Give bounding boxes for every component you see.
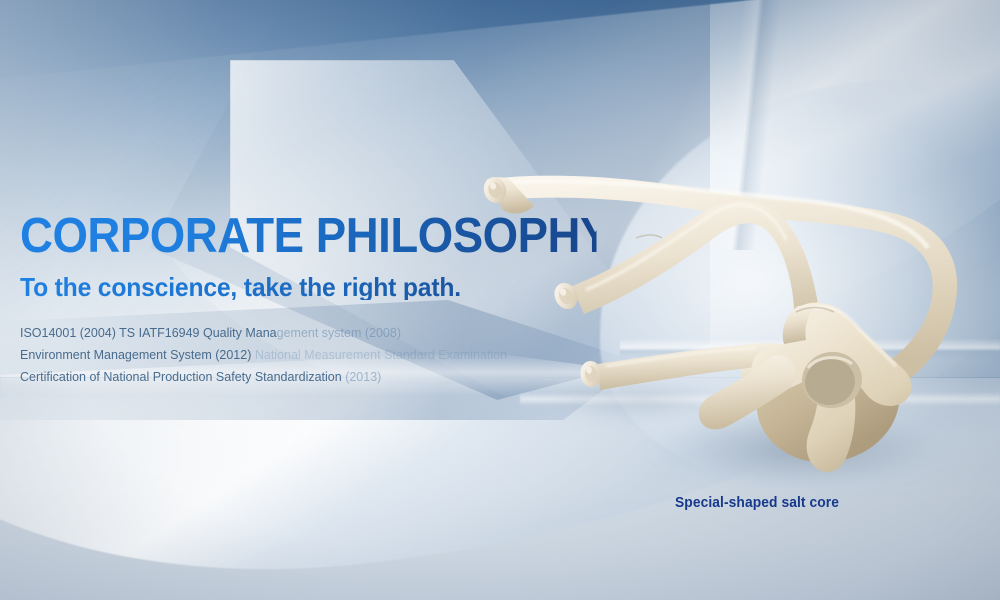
certification-list: ISO14001 (2004) TS IATF16949 Quality Man… [20,322,640,388]
certification-text-faded: (2013) [342,370,382,384]
certification-text-faded: gement system (2008) [277,326,401,340]
corporate-philosophy-banner: CORPORATE PHILOSOPHY To the conscience, … [0,0,1000,600]
certification-text-lead: Environment Management System (2012) [20,348,251,362]
certification-item: ISO14001 (2004) TS IATF16949 Quality Man… [20,322,640,344]
certification-text-lead: Certification of National Production Saf… [20,370,342,384]
page-title: CORPORATE PHILOSOPHY [20,212,597,261]
certification-item: Certification of National Production Saf… [20,366,640,388]
certification-text-lead: ISO14001 (2004) TS IATF16949 Quality Man… [20,326,277,340]
certification-text-faded: National Measurement Standard Examinatio… [251,348,507,362]
philosophy-text-block: CORPORATE PHILOSOPHY To the conscience, … [20,212,640,388]
object-caption: Special-shaped salt core [675,494,839,511]
certification-item: Environment Management System (2012) Nat… [20,344,640,366]
page-subtitle: To the conscience, take the right path. [20,274,609,300]
